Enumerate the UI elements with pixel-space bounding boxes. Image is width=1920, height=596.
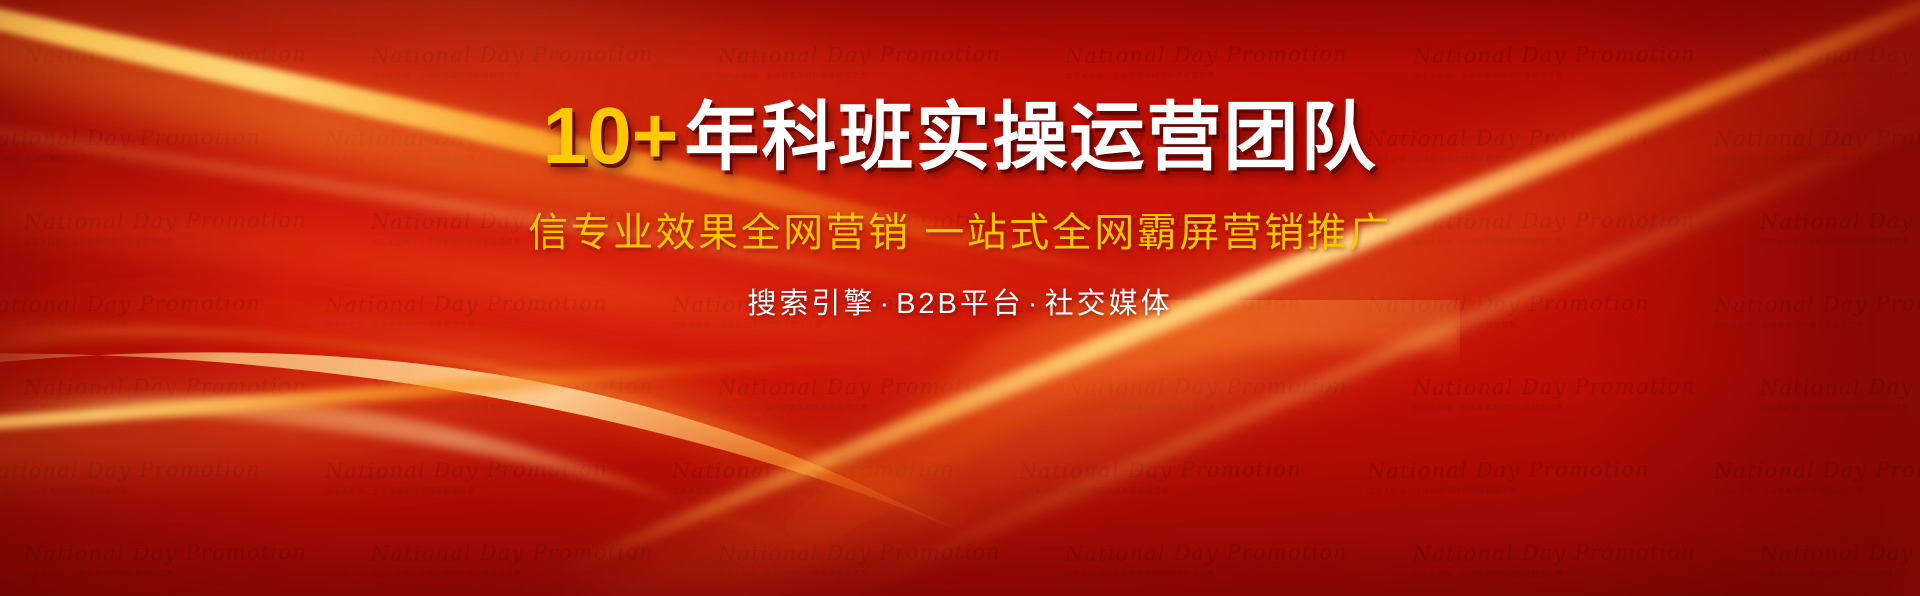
tagline: 搜索引擎·B2B平台·社交媒体 bbox=[0, 280, 1920, 322]
tagline-item-social-media: 社交媒体 bbox=[1045, 288, 1173, 320]
subheadline: 信专业效果全网营销 一站式全网霸屏营销推广 bbox=[0, 200, 1920, 258]
promo-banner: National Day Promotion国庆大促销 · 全场钜惠限时抢购享超… bbox=[0, 0, 1920, 596]
banner-text-stack: 10+年科班实操运营团队 信专业效果全网营销 一站式全网霸屏营销推广 搜索引擎·… bbox=[0, 0, 1920, 322]
headline: 10+年科班实操运营团队 bbox=[0, 96, 1920, 176]
tagline-item-search-engine: 搜索引擎 bbox=[747, 288, 875, 320]
headline-plus-icon: + bbox=[632, 91, 681, 180]
tagline-item-b2b-platform: B2B平台 bbox=[896, 288, 1024, 320]
tagline-separator-icon: · bbox=[879, 288, 892, 320]
tagline-separator-icon-2: · bbox=[1028, 288, 1041, 320]
headline-number: 10 bbox=[543, 91, 632, 180]
headline-text: 年科班实操运营团队 bbox=[684, 95, 1377, 179]
